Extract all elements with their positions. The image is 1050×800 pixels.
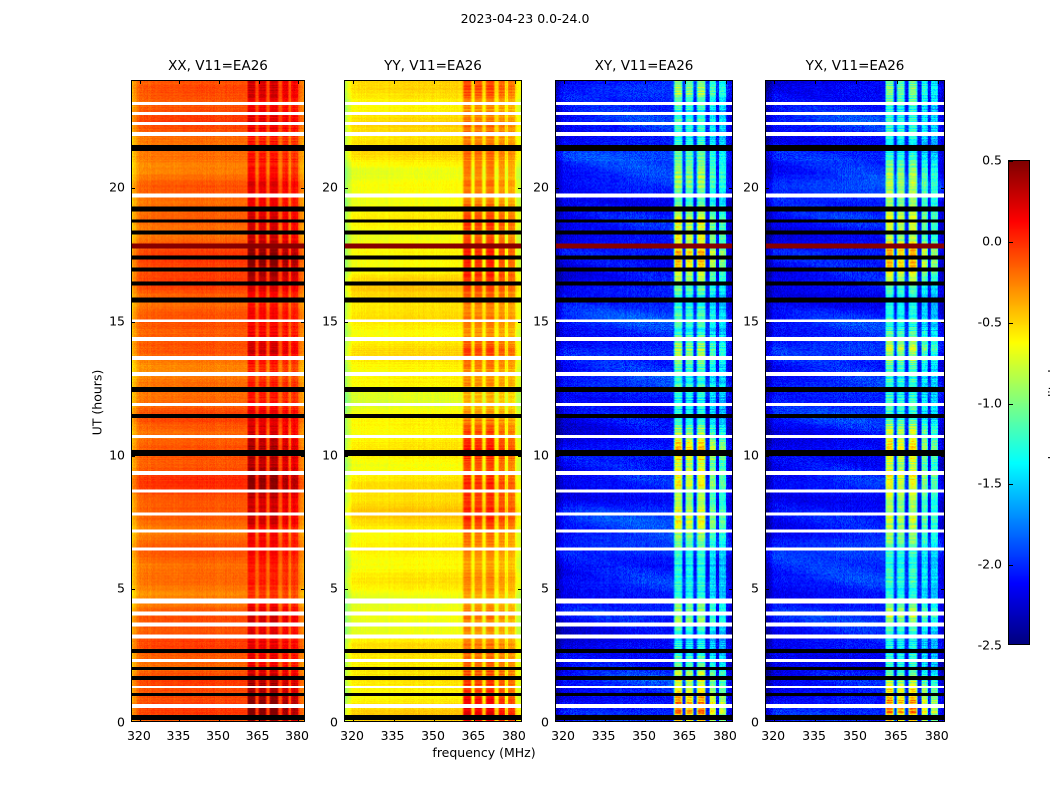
axes-yx[interactable] [765,80,945,722]
x-tick-mark [298,718,299,722]
y-tick-mark-right [941,188,945,189]
x-tick-mark [179,718,180,722]
y-tick-mark-right [518,589,522,590]
x-tick-mark [564,718,565,722]
figure-canvas: 2023-04-23 0.0-24.0 XX, V11=EA26 3203353… [0,0,1050,800]
x-tick-mark [474,718,475,722]
x-tick-mark-top [259,80,260,84]
panel-yx[interactable]: YX, V11=EA26 32033535036538005101520 [765,80,945,722]
colorbar-tick-mark [1008,565,1013,566]
colorbar-label-prefix: log [1045,440,1050,459]
y-tick-mark-right [729,589,733,590]
y-tick-label: 10 [743,447,759,462]
x-tick-mark [897,718,898,722]
x-tick-mark-top [353,80,354,84]
y-tick-label: 20 [533,180,549,195]
panel-yy[interactable]: YY, V11=EA26 32033535036538005101520 [344,80,522,722]
y-tick-label: 15 [109,313,125,328]
colorbar-tick-label: -1.5 [978,476,1002,491]
heatmap-image-yx[interactable] [766,81,944,721]
x-tick-mark [434,718,435,722]
y-tick-label: 15 [322,313,338,328]
x-tick-mark [353,718,354,722]
y-tick-mark [131,589,135,590]
y-tick-mark-right [941,589,945,590]
x-tick-mark-top [564,80,565,84]
y-tick-mark [555,589,559,590]
x-tick-mark [394,718,395,722]
x-tick-label: 380 [713,728,737,743]
x-tick-mark [856,718,857,722]
x-tick-mark [938,718,939,722]
y-tick-mark-right [518,188,522,189]
y-tick-mark [555,322,559,323]
y-tick-mark-right [941,456,945,457]
y-tick-label: 0 [751,715,759,730]
y-tick-label: 10 [322,447,338,462]
x-tick-label: 320 [127,728,151,743]
colorbar-tick-label: -1.0 [978,395,1002,410]
x-tick-label: 350 [843,728,867,743]
y-tick-mark [765,456,769,457]
x-tick-label: 365 [246,728,270,743]
x-tick-mark-top [605,80,606,84]
x-tick-label: 365 [462,728,486,743]
y-tick-mark [131,322,135,323]
x-tick-label: 320 [761,728,785,743]
colorbar-tick-label: -2.0 [978,557,1002,572]
x-tick-mark [774,718,775,722]
y-tick-mark [344,589,348,590]
y-tick-mark-right [301,322,305,323]
x-tick-label: 320 [551,728,575,743]
x-tick-mark [726,718,727,722]
y-axis-label: UT (hours) [89,370,104,436]
panel-xy[interactable]: XY, V11=EA26 32033535036538005101520 [555,80,733,722]
x-tick-label: 335 [167,728,191,743]
x-tick-label: 380 [502,728,526,743]
x-tick-mark [515,718,516,722]
x-tick-label: 365 [884,728,908,743]
y-tick-label: 5 [330,581,338,596]
y-tick-mark [344,322,348,323]
y-tick-label: 0 [541,715,549,730]
colorbar-tick-mark [1008,242,1013,243]
colorbar[interactable]: -2.5-2.0-1.5-1.0-0.50.00.5 [1008,160,1030,645]
panel-title-xy: XY, V11=EA26 [555,58,733,74]
x-tick-mark [645,718,646,722]
y-tick-label: 5 [751,581,759,596]
y-tick-label: 5 [117,581,125,596]
colorbar-tick-label: -0.5 [978,314,1002,329]
y-tick-mark [555,456,559,457]
y-tick-mark-right [301,456,305,457]
y-tick-mark-right [518,456,522,457]
x-tick-mark-top [856,80,857,84]
y-tick-mark [344,188,348,189]
x-tick-mark-top [474,80,475,84]
x-tick-mark-top [897,80,898,84]
x-tick-mark-top [140,80,141,84]
colorbar-tick-mark [1008,404,1013,405]
heatmap-image-xx[interactable] [132,81,304,721]
y-tick-mark [131,456,135,457]
x-tick-label: 335 [802,728,826,743]
y-tick-label: 15 [743,313,759,328]
y-tick-mark-right [729,322,733,323]
y-tick-label: 15 [533,313,549,328]
y-tick-label: 20 [743,180,759,195]
x-tick-mark-top [685,80,686,84]
y-tick-mark-right [941,322,945,323]
y-tick-label: 10 [109,447,125,462]
x-tick-mark [605,718,606,722]
x-axis-label: frequency (MHz) [432,745,535,760]
y-tick-mark [344,456,348,457]
heatmap-image-xy[interactable] [556,81,732,721]
axes-xx[interactable] [131,80,305,722]
y-tick-mark-right [301,188,305,189]
x-tick-mark-top [645,80,646,84]
panel-title-xx: XX, V11=EA26 [131,58,305,74]
colorbar-gradient [1008,160,1030,645]
y-tick-label: 20 [322,180,338,195]
axes-xy[interactable] [555,80,733,722]
y-tick-mark-right [729,456,733,457]
colorbar-label: log10 amplitude [1045,362,1050,460]
panel-title-yy: YY, V11=EA26 [344,58,522,74]
colorbar-tick-mark [1008,161,1013,162]
y-tick-label: 5 [541,581,549,596]
axes-yy[interactable] [344,80,522,722]
colorbar-tick-mark [1008,484,1013,485]
colorbar-tick-label: 0.5 [982,153,1002,168]
colorbar-tick-mark [1008,323,1013,324]
x-tick-mark [219,718,220,722]
x-tick-mark-top [938,80,939,84]
x-tick-label: 350 [421,728,445,743]
y-tick-label: 0 [117,715,125,730]
panel-xx[interactable]: XX, V11=EA26 32033535036538005101520 [131,80,305,722]
x-tick-label: 350 [206,728,230,743]
x-tick-mark-top [394,80,395,84]
y-tick-mark [765,188,769,189]
y-tick-label: 20 [109,180,125,195]
x-tick-label: 320 [340,728,364,743]
x-tick-label: 380 [285,728,309,743]
y-tick-mark-right [301,589,305,590]
x-tick-label: 335 [592,728,616,743]
x-tick-mark [815,718,816,722]
heatmap-image-yy[interactable] [345,81,521,721]
x-tick-mark-top [815,80,816,84]
x-tick-mark-top [515,80,516,84]
x-tick-mark-top [726,80,727,84]
x-tick-label: 335 [381,728,405,743]
colorbar-tick-label: 0.0 [982,233,1002,248]
y-tick-mark [765,589,769,590]
x-tick-mark-top [219,80,220,84]
x-tick-mark [685,718,686,722]
y-tick-label: 0 [330,715,338,730]
y-tick-mark-right [518,322,522,323]
x-tick-label: 365 [673,728,697,743]
panel-title-yx: YX, V11=EA26 [765,58,945,74]
figure-suptitle: 2023-04-23 0.0-24.0 [0,11,1050,26]
y-tick-mark [555,188,559,189]
colorbar-label-suffix: amplitude [1045,362,1050,429]
y-tick-mark [131,188,135,189]
x-tick-mark-top [434,80,435,84]
colorbar-tick-label: -2.5 [978,638,1002,653]
x-tick-label: 350 [632,728,656,743]
x-tick-label: 380 [925,728,949,743]
x-tick-mark-top [179,80,180,84]
x-tick-mark [140,718,141,722]
x-tick-mark-top [774,80,775,84]
x-tick-mark [259,718,260,722]
y-tick-mark-right [729,188,733,189]
y-tick-mark [765,322,769,323]
x-tick-mark-top [298,80,299,84]
y-tick-label: 10 [533,447,549,462]
